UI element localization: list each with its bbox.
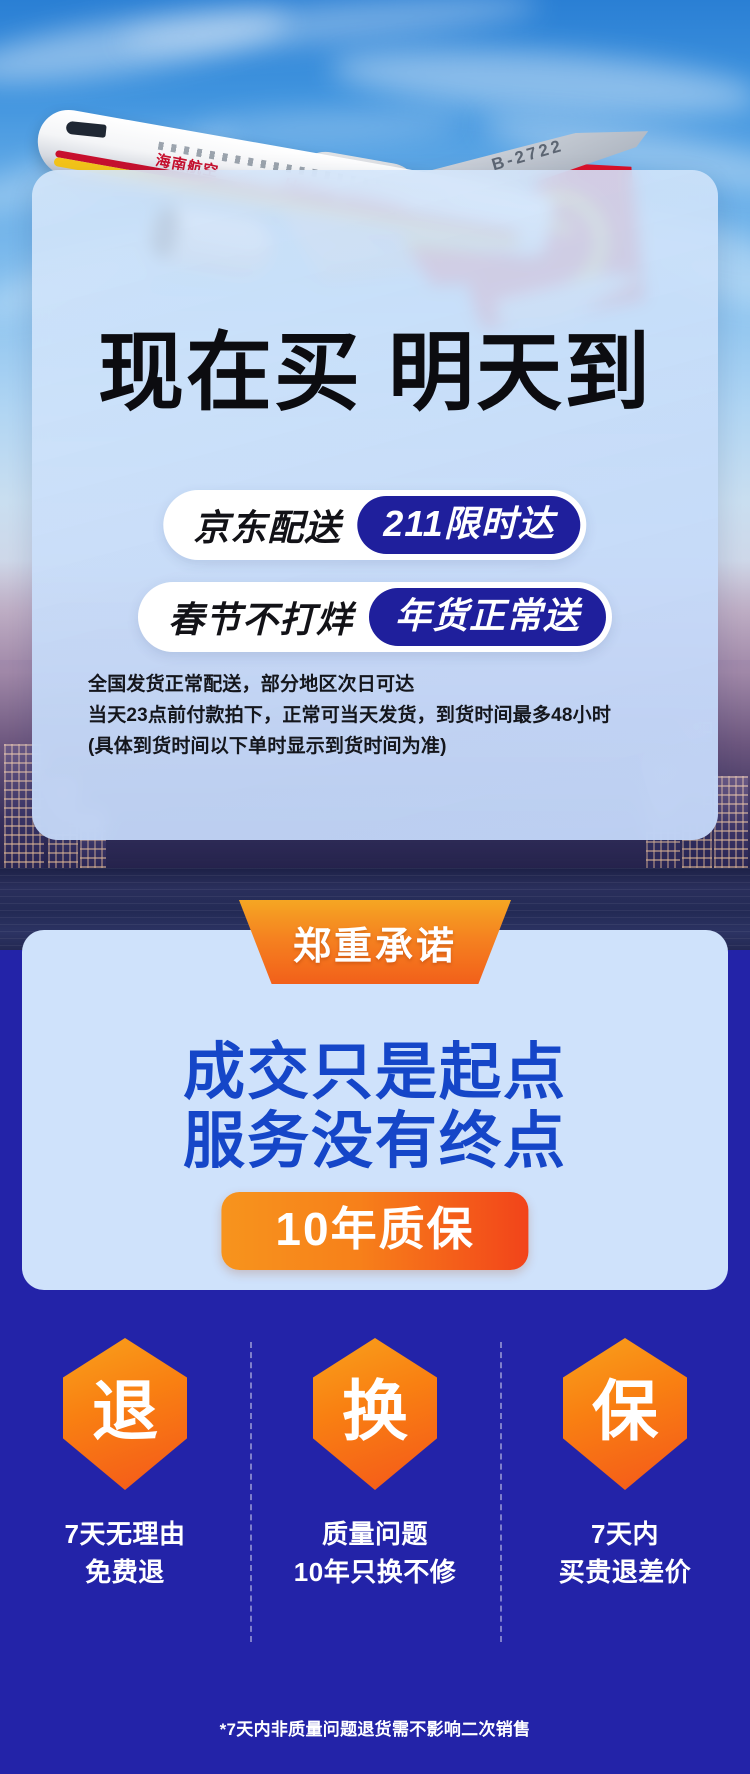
page-title: 现在买明天到 [32, 330, 718, 416]
promise-tag-label: 郑重承诺 [293, 915, 457, 970]
promise-card: 成交只是起点 服务没有终点 10年质保 [22, 930, 728, 1290]
guarantee-item-exchange: 换 质量问题 10年只换不修 [250, 1338, 500, 1591]
building-shape [714, 776, 748, 872]
guarantee-footnote: *7天内非质量问题退货需不影响二次销售 [0, 1715, 750, 1740]
promise-slogan: 成交只是起点 服务没有终点 [22, 1038, 728, 1177]
guarantee-item-return: 退 7天无理由 免费退 [0, 1338, 250, 1591]
caption-line-2: 10年只换不修 [294, 1554, 456, 1592]
hero-section: 海南航空 Hainan Airlines B-2722 现在买明天到 京东配送 … [0, 0, 750, 950]
caption-line-2: 免费退 [65, 1554, 186, 1592]
promise-slogan-line-2: 服务没有终点 [22, 1107, 728, 1176]
guarantee-grid: 退 7天无理由 免费退 换 质量问题 10年只换不修 保 [0, 1338, 750, 1591]
shield-glyph-exchange: 换 [342, 1378, 408, 1444]
caption-line-1: 7天内 [559, 1516, 692, 1554]
shield-glyph-price-protection: 保 [592, 1378, 658, 1444]
shield-icon-price-protection: 保 [563, 1338, 687, 1490]
caption-line-1: 质量问题 [294, 1516, 456, 1554]
badge-right-label-2: 年货正常送 [369, 588, 606, 646]
fineprint-line-3: (具体到货时间以下单时显示到货时间为准) [88, 732, 688, 763]
fineprint-line-1: 全国发货正常配送，部分地区次日可达 [88, 670, 688, 701]
delivery-badge-row-2: 春节不打烊 年货正常送 [138, 582, 612, 652]
guarantee-caption-return: 7天无理由 免费退 [65, 1516, 186, 1591]
hero-info-card: 现在买明天到 京东配送 211限时达 春节不打烊 年货正常送 全国发货正常配送，… [32, 170, 718, 840]
promise-section: 成交只是起点 服务没有终点 10年质保 郑重承诺 [0, 900, 750, 1330]
badge-left-label-2: 春节不打烊 [168, 591, 369, 643]
promise-tag: 郑重承诺 [239, 900, 511, 984]
headline-part-2: 明天到 [388, 325, 652, 421]
guarantee-caption-exchange: 质量问题 10年只换不修 [294, 1516, 456, 1591]
delivery-badge-row-1: 京东配送 211限时达 [163, 490, 586, 560]
badge-right-label-1: 211限时达 [357, 496, 580, 554]
promo-banner-page: 海南航空 Hainan Airlines B-2722 现在买明天到 京东配送 … [0, 0, 750, 1774]
shipping-fineprint: 全国发货正常配送，部分地区次日可达 当天23点前付款拍下，正常可当天发货，到货时… [88, 670, 688, 762]
shield-icon-exchange: 换 [313, 1338, 437, 1490]
guarantee-section: 退 7天无理由 免费退 换 质量问题 10年只换不修 保 [0, 1310, 750, 1774]
promise-slogan-line-1: 成交只是起点 [22, 1038, 728, 1107]
warranty-badge: 10年质保 [221, 1192, 528, 1270]
shield-icon-return: 退 [63, 1338, 187, 1490]
caption-line-1: 7天无理由 [65, 1516, 186, 1554]
shield-glyph-return: 退 [92, 1378, 158, 1444]
airplane-cockpit-window [66, 121, 107, 138]
badge-left-label-1: 京东配送 [193, 499, 357, 551]
headline-part-1: 现在买 [98, 325, 362, 421]
guarantee-caption-price-protection: 7天内 买贵退差价 [559, 1516, 692, 1591]
caption-line-2: 买贵退差价 [559, 1554, 692, 1592]
guarantee-item-price-protection: 保 7天内 买贵退差价 [500, 1338, 750, 1591]
fineprint-line-2: 当天23点前付款拍下，正常可当天发货，到货时间最多48小时 [88, 701, 688, 732]
